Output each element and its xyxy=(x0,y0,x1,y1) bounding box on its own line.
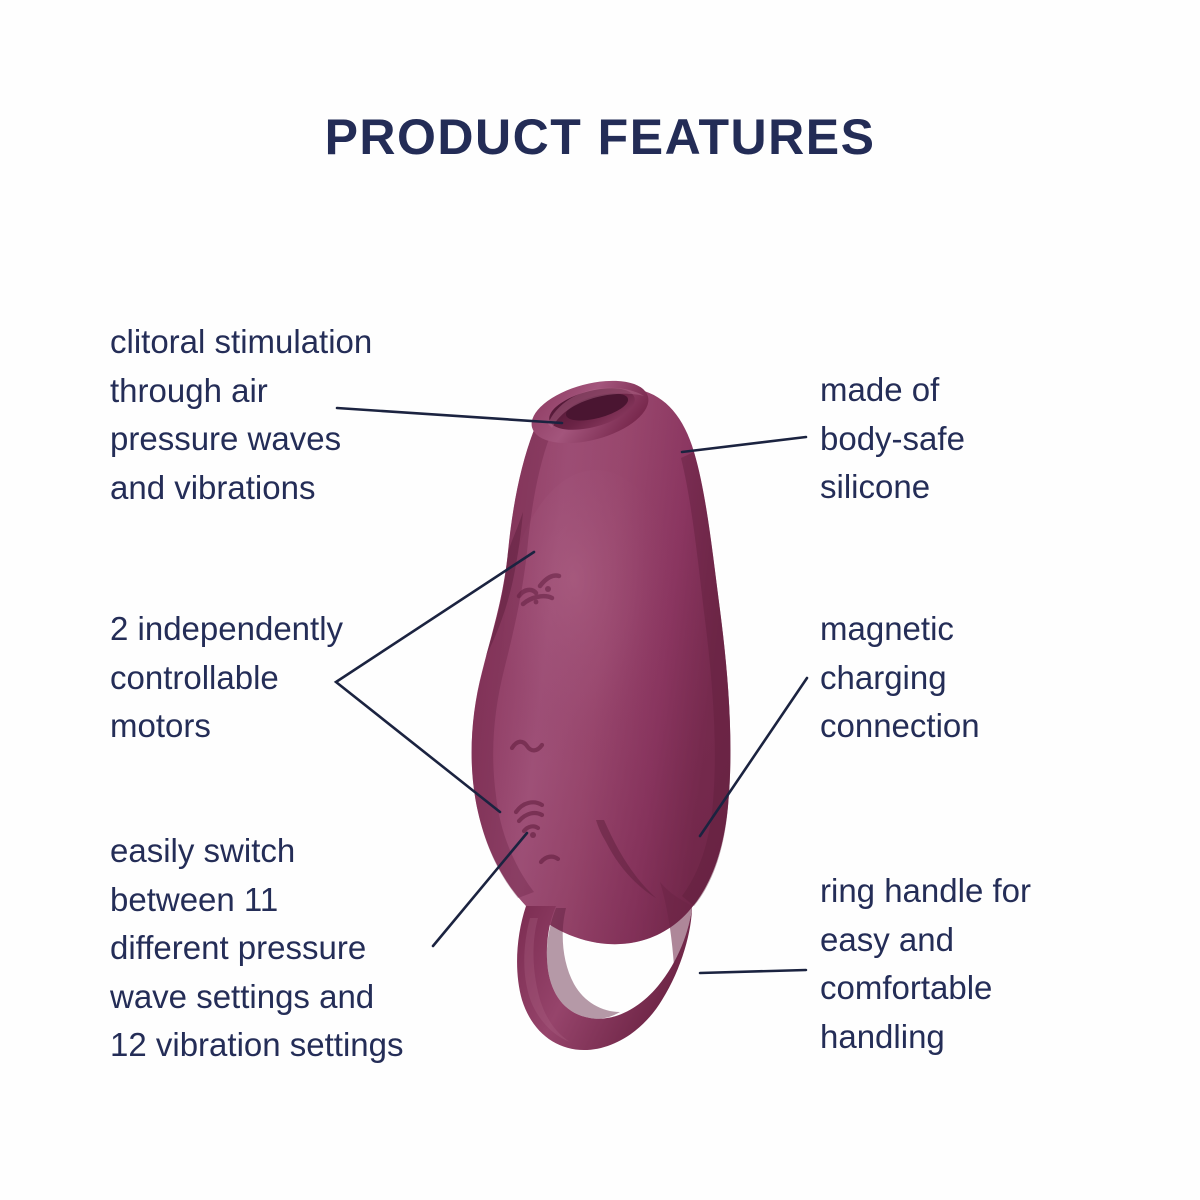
leader-line-charging xyxy=(700,678,807,836)
leader-line-motors xyxy=(336,552,534,812)
leader-lines-group xyxy=(0,0,1200,1200)
leader-line-ring-handle xyxy=(700,970,806,973)
leader-line-settings xyxy=(433,833,527,946)
leader-line-silicone xyxy=(682,437,806,452)
product-features-infographic: PRODUCT FEATURES xyxy=(0,0,1200,1200)
leader-line-air-pressure xyxy=(337,408,562,423)
